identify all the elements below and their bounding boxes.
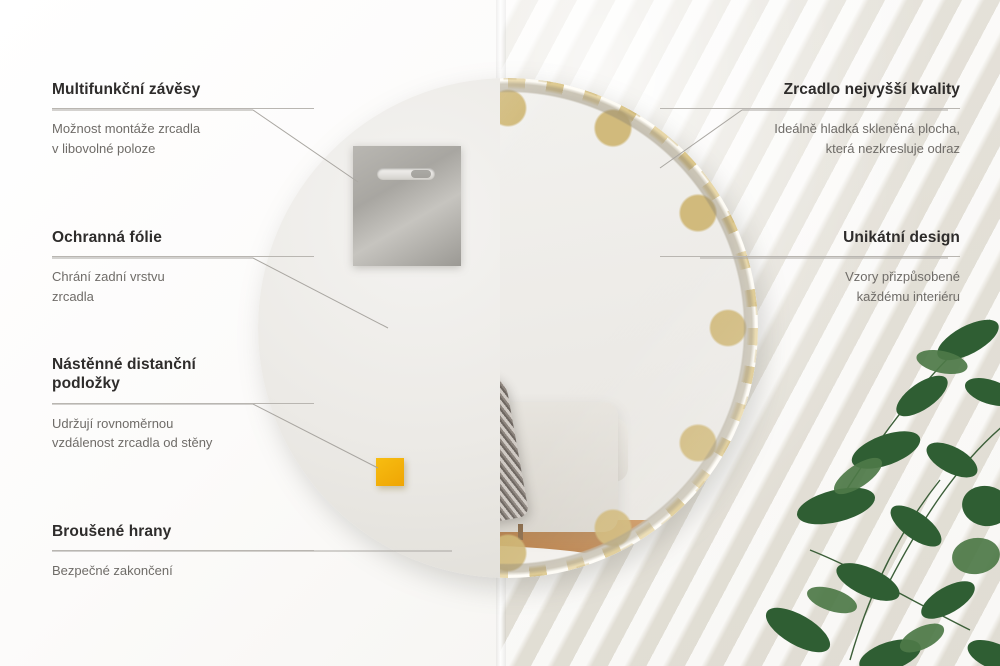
callout-ground-edges: Broušené hrany Bezpečné zakončení — [52, 522, 314, 581]
callout-title: Unikátní design — [660, 228, 960, 247]
callout-title: Multifunkční závěsy — [52, 80, 314, 99]
callout-description: Možnost montáže zrcadla v libovolné polo… — [52, 119, 314, 158]
title-line-1: Nástěnné distanční — [52, 356, 196, 373]
callout-title: Zrcadlo nejvyšší kvality — [660, 80, 960, 99]
callout-description: Bezpečné zakončení — [52, 561, 314, 581]
callout-multifunctional-hangers: Multifunkční závěsy Možnost montáže zrca… — [52, 80, 314, 158]
callout-rule — [52, 108, 314, 109]
callout-rule — [52, 550, 314, 551]
callout-wall-spacers: Nástěnné distanční podložky Udržují rovn… — [52, 355, 314, 453]
desc-line-1: Možnost montáže zrcadla — [52, 121, 200, 136]
callout-rule — [52, 256, 314, 257]
callout-description: Ideálně hladká skleněná plocha, která ne… — [660, 119, 960, 158]
callout-description: Chrání zadní vrstvu zrcadla — [52, 267, 314, 306]
desc-line-2: zrcadla — [52, 289, 94, 304]
callout-protective-foil: Ochranná fólie Chrání zadní vrstvu zrcad… — [52, 228, 314, 306]
callout-description: Udržují rovnoměrnou vzdálenost zrcadla o… — [52, 414, 314, 453]
callout-title: Broušené hrany — [52, 522, 314, 541]
callout-title: Nástěnné distanční podložky — [52, 355, 314, 394]
desc-line-1: Chrání zadní vrstvu — [52, 269, 165, 284]
desc-line-2: která nezkresluje odraz — [826, 141, 960, 156]
callout-rule — [660, 256, 960, 257]
callout-rule — [52, 403, 314, 404]
callout-description: Vzory přizpůsobené každému interiéru — [660, 267, 960, 306]
desc-line-1: Vzory přizpůsobené — [845, 269, 960, 284]
title-line-2: podložky — [52, 375, 120, 392]
desc-line-2: v libovolné poloze — [52, 141, 155, 156]
callout-rule — [660, 108, 960, 109]
desc-line-1: Udržují rovnoměrnou — [52, 416, 173, 431]
callout-title: Ochranná fólie — [52, 228, 314, 247]
callout-unique-design: Unikátní design Vzory přizpůsobené každé… — [660, 228, 960, 306]
desc-line-2: každému interiéru — [857, 289, 960, 304]
desc-line-1: Ideálně hladká skleněná plocha, — [774, 121, 960, 136]
infographic-canvas: Multifunkční závěsy Možnost montáže zrca… — [0, 0, 1000, 666]
callout-top-quality-mirror: Zrcadlo nejvyšší kvality Ideálně hladká … — [660, 80, 960, 158]
desc-line-2: vzdálenost zrcadla od stěny — [52, 435, 212, 450]
